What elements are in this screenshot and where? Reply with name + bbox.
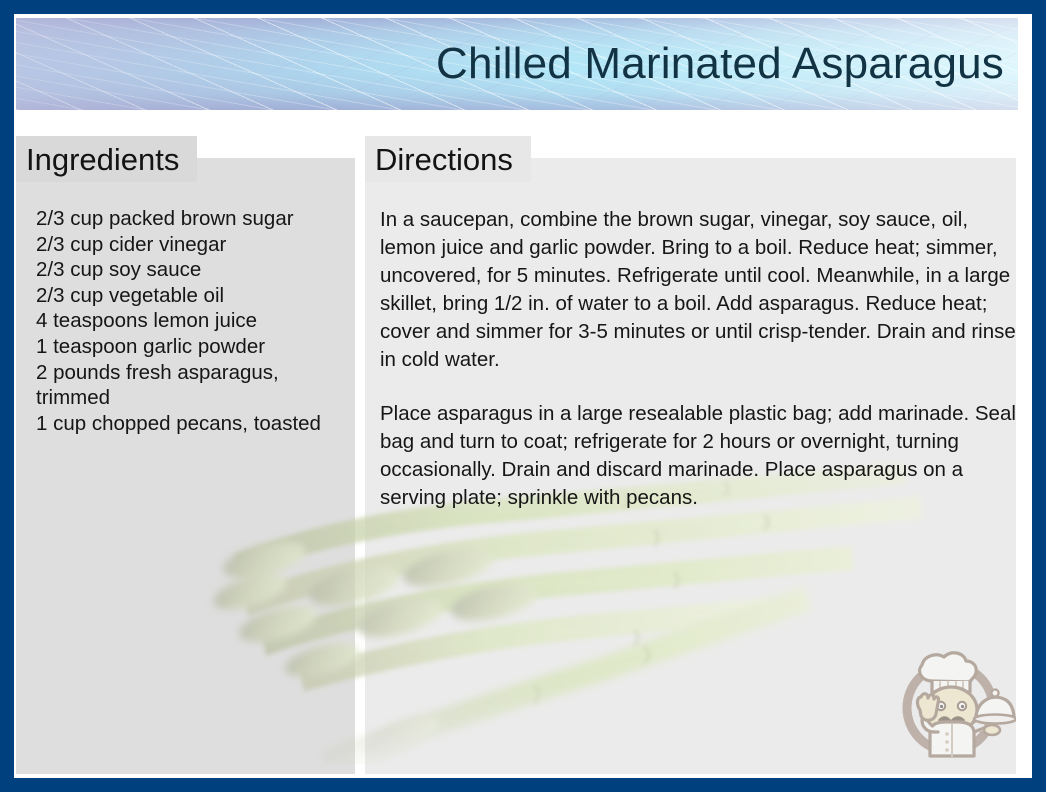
list-item: 2/3 cup cider vinegar	[36, 232, 354, 258]
ingredients-tab: Ingredients	[16, 136, 197, 182]
slide-paper: Chilled Marinated Asparagus Ingredients …	[14, 14, 1032, 778]
page-title: Chilled Marinated Asparagus	[436, 41, 1004, 87]
recipe-slide: Chilled Marinated Asparagus Ingredients …	[0, 0, 1046, 792]
title-banner: Chilled Marinated Asparagus	[16, 18, 1018, 110]
directions-paragraph: In a saucepan, combine the brown sugar, …	[380, 206, 1028, 374]
directions-paragraph: Place asparagus in a large resealable pl…	[380, 400, 1028, 512]
chef-logo-icon	[888, 634, 1016, 762]
list-item: 2/3 cup soy sauce	[36, 257, 354, 283]
ingredients-list: 2/3 cup packed brown sugar 2/3 cup cider…	[36, 206, 354, 436]
list-item: 4 teaspoons lemon juice	[36, 308, 354, 334]
directions-tab: Directions	[365, 136, 531, 182]
list-item: 2/3 cup vegetable oil	[36, 283, 354, 309]
list-item: 1 cup chopped pecans, toasted	[36, 411, 354, 437]
list-item: 1 teaspoon garlic powder	[36, 334, 354, 360]
list-item: 2 pounds fresh asparagus, trimmed	[36, 360, 354, 411]
directions-text: In a saucepan, combine the brown sugar, …	[380, 206, 1028, 512]
list-item: 2/3 cup packed brown sugar	[36, 206, 354, 232]
